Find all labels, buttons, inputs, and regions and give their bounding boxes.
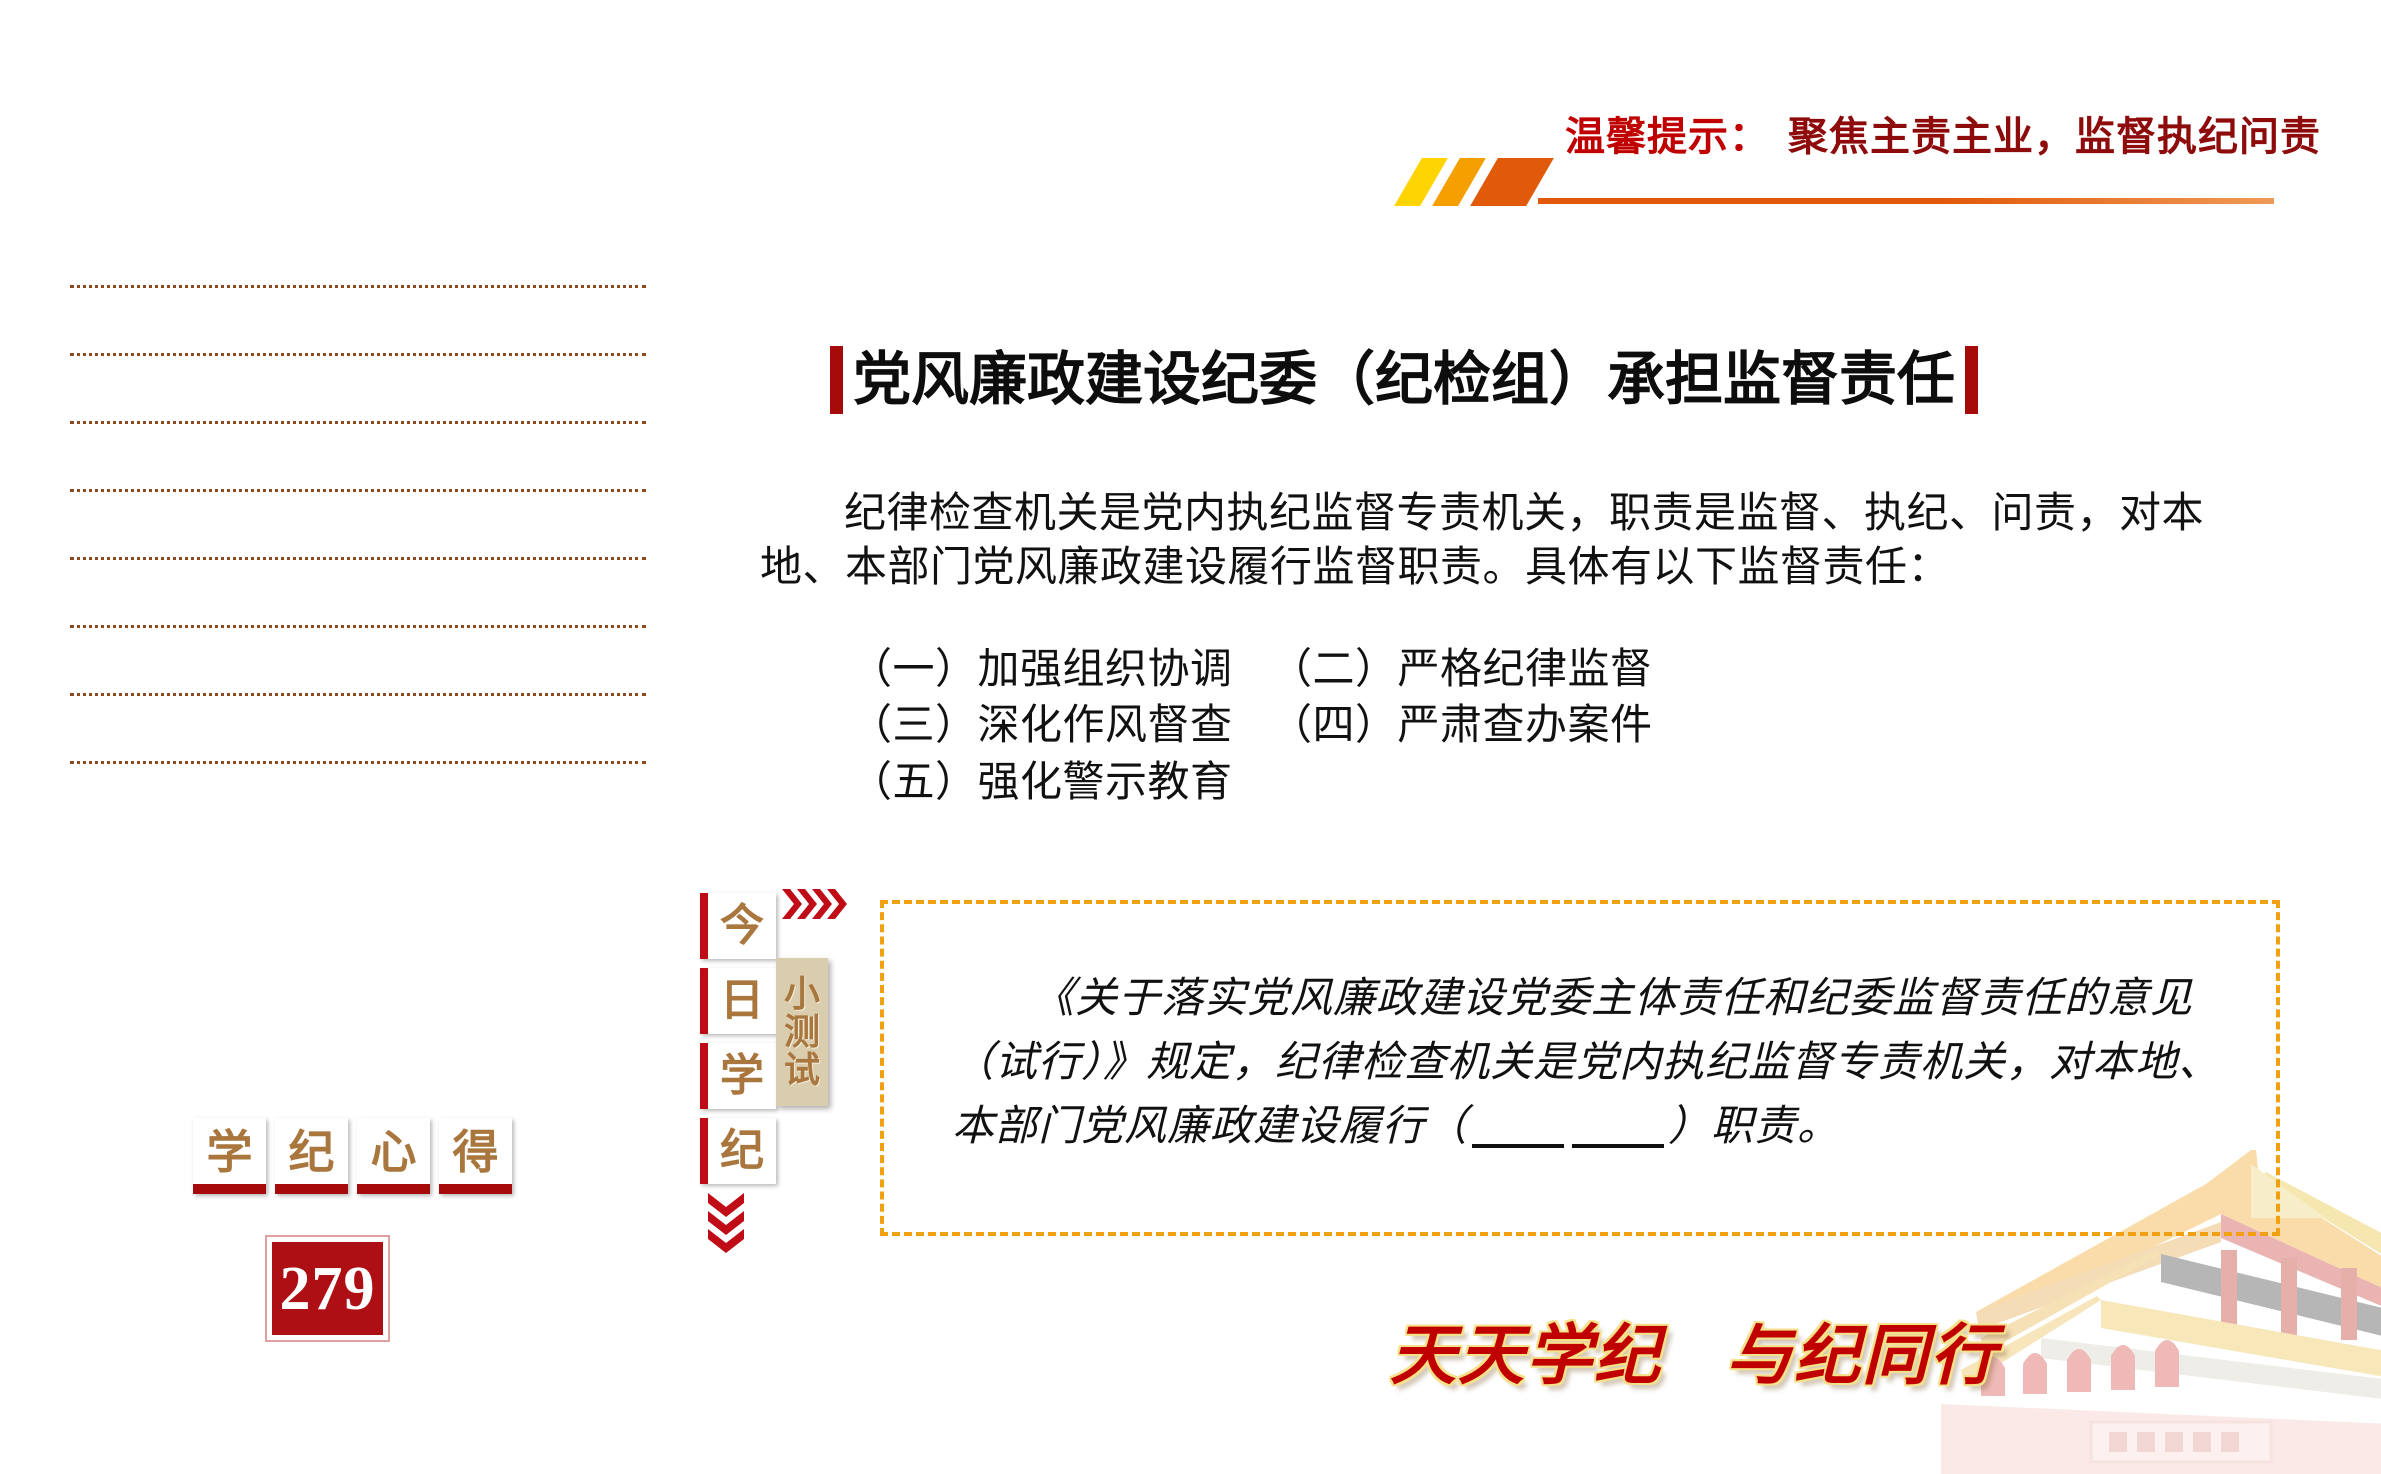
vlabel-char-text: 学 [712,1054,764,1098]
title-text: 党风廉政建设纪委（纪检组）承担监督责任 [843,351,1965,409]
page-number-value: 279 [280,1258,376,1320]
quiz-tab-char: 小 [784,975,820,1013]
vlabel-char: 纪 [700,1118,776,1184]
chevron-right-icon [782,887,852,921]
notes-stamp-text: 学 [207,1129,253,1175]
chevron-down-icon [706,1193,746,1257]
slogan-part2: 与纪同行 [1726,1320,1998,1393]
notes-stamp-text: 心 [371,1129,417,1175]
notes-stamp-text: 得 [453,1129,499,1175]
bottom-slogan: 天天学纪与纪同行 [1390,1302,1998,1398]
quiz-question: 《关于落实党风廉政建设党委主体责任和纪委监督责任的意见（试行）》规定，纪律检查机… [952,968,2252,1159]
vlabel-char-text: 日 [712,979,764,1023]
page-title: 党风廉政建设纪委（纪检组）承担监督责任 [830,338,1978,422]
notes-stamp-char: 得 [439,1118,512,1194]
writing-line [70,489,646,492]
today-study-label: 今 日 学 纪 [700,893,786,1193]
notes-stamp-char: 纪 [275,1118,348,1194]
duties-list: （一）加强组织协调 （二）严格纪律监督 （三）深化作风督查 （四）严肃查办案件 … [850,642,2150,811]
body-paragraph: 纪律检查机关是党内执纪监督专责机关，职责是监督、执纪、问责，对本地、本部门党风廉… [760,488,2220,596]
warm-tip-banner: 温馨提示：聚焦主责主业，监督执纪问责 [1400,140,2270,240]
duty-item: （四）严肃查办案件 [1270,698,1653,754]
list-item: （一）加强组织协调 （二）严格纪律监督 [850,642,2150,698]
page-number-inner: 279 [272,1242,383,1335]
warm-tip-label: 温馨提示： [1565,115,1770,159]
writing-line [70,761,646,764]
notes-stamp-text: 纪 [289,1129,335,1175]
quiz-question-after: ）职责。 [1668,1104,1840,1150]
vlabel-char-text: 今 [712,904,764,948]
vlabel-char: 日 [700,968,776,1034]
warm-tip-text: 温馨提示：聚焦主责主业，监督执纪问责 [1565,104,2321,162]
vlabel-char: 学 [700,1043,776,1109]
notes-stamps: 学 纪 心 得 [193,1118,512,1194]
vlabel-char-text: 纪 [712,1129,764,1173]
vlabel-char: 今 [700,893,776,959]
quiz-blank[interactable] [1472,1144,1564,1148]
banner-underline [1538,198,2274,204]
writing-line [70,421,646,424]
notes-stamp-char: 心 [357,1118,430,1194]
quiz-blank[interactable] [1572,1144,1664,1148]
slide-canvas: 温馨提示：聚焦主责主业，监督执纪问责 党风廉政建设纪委（纪检组）承担监督责任 纪… [0,0,2381,1474]
quiz-tab-char: 测 [784,1013,820,1051]
notes-stamp-char: 学 [193,1118,266,1194]
warm-tip-value: 聚焦主责主业，监督执纪问责 [1788,115,2321,159]
duty-item: （五）强化警示教育 [850,755,1270,811]
quiz-tab-label: 小 测 试 [776,958,828,1106]
quiz-tab-char: 试 [784,1051,820,1089]
duty-item: （三）深化作风督查 [850,698,1270,754]
writing-line [70,693,646,696]
list-item: （三）深化作风督查 （四）严肃查办案件 [850,698,2150,754]
writing-line [70,285,646,288]
duty-item: （二）严格纪律监督 [1270,642,1653,698]
body-section: 纪律检查机关是党内执纪监督专责机关，职责是监督、执纪、问责，对本地、本部门党风廉… [760,488,2220,596]
duty-item: （一）加强组织协调 [850,642,1270,698]
writing-line [70,557,646,560]
quiz-question-before: 《关于落实党风廉政建设党委主体责任和纪委监督责任的意见（试行）》规定，纪律检查机… [952,976,2221,1150]
list-item: （五）强化警示教育 [850,755,2150,811]
banner-slash-decor [1400,158,1560,206]
writing-line [70,353,646,356]
title-bar-left [830,346,843,414]
page-number-badge: 279 [265,1235,390,1342]
slogan-part1: 天天学纪 [1390,1320,1662,1393]
title-bar-right [1965,346,1978,414]
writing-line [70,625,646,628]
